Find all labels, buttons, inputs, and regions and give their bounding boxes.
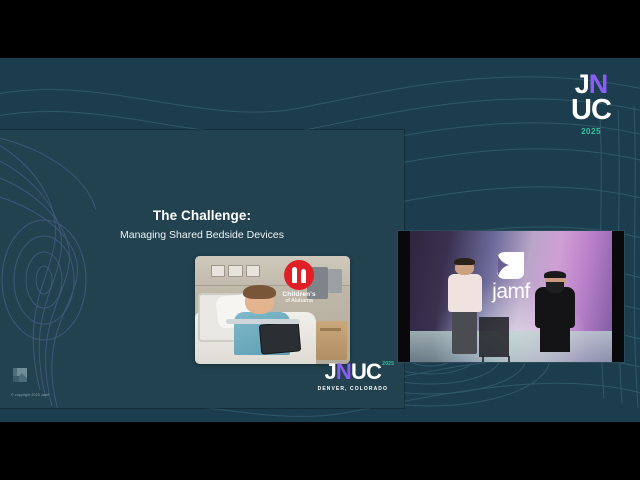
jamf-backdrop-logo: jamf xyxy=(492,252,530,302)
speaker-standing-left xyxy=(448,260,482,354)
speaker-left-hair xyxy=(454,258,474,266)
photo-bedside-cabinet xyxy=(316,321,347,360)
photo-bed-rail xyxy=(226,319,300,324)
photo-child-hair xyxy=(243,285,276,299)
jamf-logo-mark-icon xyxy=(13,368,27,382)
jamf-wordmark: jamf xyxy=(492,281,530,302)
photo-wall-outlets xyxy=(211,265,261,277)
video-pillarbox-left xyxy=(398,231,410,362)
slide-photo-hospital-bedside: Children's of Alabama xyxy=(195,256,350,364)
speaker-seated-right xyxy=(534,273,577,352)
childrens-of-alabama-line1: Children's xyxy=(276,291,322,298)
speaker-left-legs xyxy=(452,311,476,354)
jnuc-footer-city: DENVER, COLORADO xyxy=(318,386,388,392)
slide-panel[interactable]: The Challenge: Managing Shared Bedside D… xyxy=(0,130,404,408)
speaker-right-legs xyxy=(540,325,569,352)
jnuc-logo-year: 2025 xyxy=(560,127,622,136)
jnuc-logo-top-right: JN UC 2025 xyxy=(560,72,622,136)
jnuc-footer-letters-uc: UC xyxy=(351,359,381,384)
jamf-mark-icon xyxy=(498,252,525,279)
stage-floor xyxy=(410,331,612,362)
slide-title: The Challenge: xyxy=(0,208,404,223)
childrens-of-alabama-line2: of Alabama xyxy=(276,298,322,304)
photo-wall-device xyxy=(328,269,342,293)
letterbox-top xyxy=(0,0,640,58)
jnuc-logo-wordmark: JNUC2025 xyxy=(324,361,381,383)
jnuc-footer-letter-n-mountain: N xyxy=(336,359,351,384)
speaker-right-torso xyxy=(535,287,575,328)
letterbox-bottom xyxy=(0,422,640,480)
jnuc-logo-slide-footer: JNUC2025 DENVER, COLORADO xyxy=(318,361,388,392)
jnuc-footer-letter-j: J xyxy=(324,359,335,384)
jnuc-logo-line2: UC xyxy=(560,97,622,124)
speaker-video-panel[interactable]: jamf xyxy=(397,230,625,363)
speaker-right-beard xyxy=(546,282,563,293)
screen-frame: JN UC 2025 xyxy=(0,0,640,480)
slide-copyright: © copyright 2025 Jamf xyxy=(11,393,49,397)
jnuc-footer-year: 2025 xyxy=(382,362,394,367)
childrens-of-alabama-logo: Children's of Alabama xyxy=(276,260,322,304)
slide-subtitle: Managing Shared Bedside Devices xyxy=(0,229,404,241)
video-pillarbox-right xyxy=(612,231,624,362)
presentation-canvas: JN UC 2025 xyxy=(0,58,640,422)
stage-stool xyxy=(479,317,508,356)
speaker-right-hair xyxy=(544,271,566,279)
childrens-of-alabama-disc-icon xyxy=(284,260,314,290)
speaker-left-torso xyxy=(448,274,482,312)
photo-tablet-device xyxy=(259,321,302,355)
